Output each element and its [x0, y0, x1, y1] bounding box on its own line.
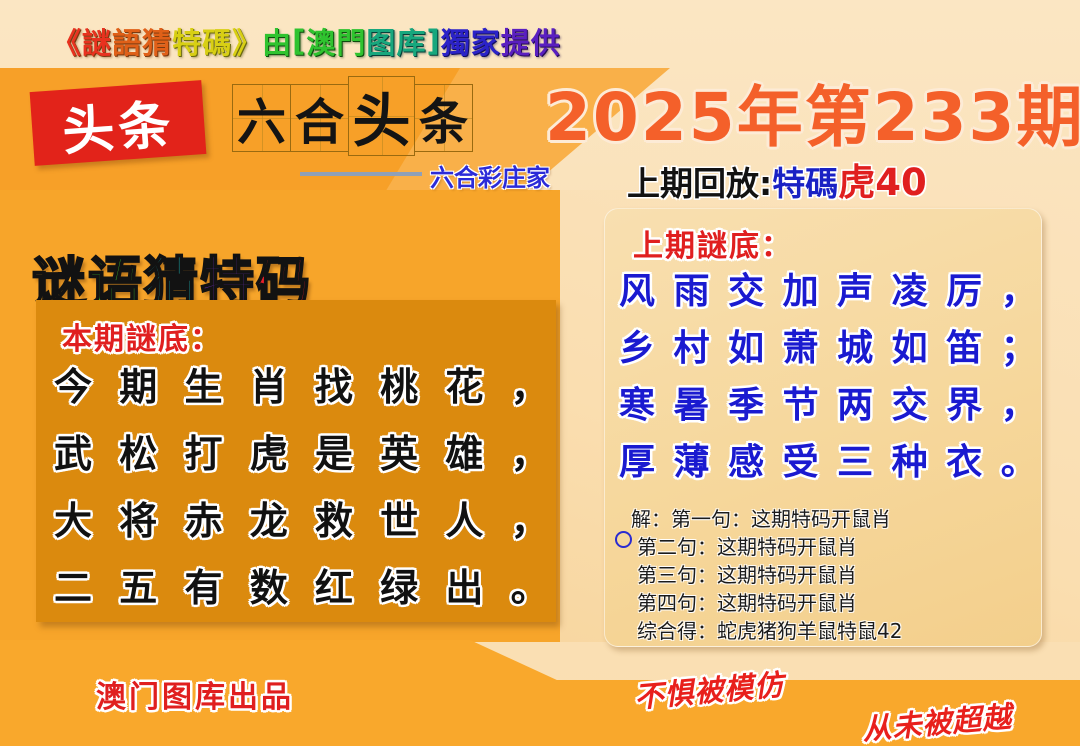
header-segment-6: 》: [232, 20, 262, 62]
header-segment-3: 猜: [142, 20, 172, 62]
previous-riddle-title: 上期謎底：: [633, 221, 793, 265]
last-draw-line: 上期回放:特碼虎40: [627, 152, 927, 206]
current-riddle-line-1: 武 松 打 虎 是 英 雄 ，: [54, 421, 544, 488]
header-segment-15: 家: [471, 20, 501, 62]
grid-title: 六合头条: [232, 84, 472, 156]
grid-title-cell-0: 六: [232, 84, 291, 152]
current-riddle-line-2: 大 将 赤 龙 救 世 人 ，: [54, 488, 544, 555]
current-riddle-title: 本期謎底：: [62, 314, 222, 358]
header-segment-0: 《: [52, 20, 82, 62]
grid-title-char: 合: [295, 83, 344, 154]
grid-title-cell-1: 合: [290, 84, 349, 152]
header-segment-14: 獨: [441, 20, 471, 62]
header-segment-13: ]: [426, 24, 440, 58]
previous-riddle-note-2: 第三句：这期特码开鼠肖: [631, 561, 1031, 589]
current-riddle-line-3: 二 五 有 数 红 绿 出 。: [54, 555, 544, 622]
subtitle-label: 六合彩庄家: [430, 158, 550, 193]
grid-title-char: 六: [237, 83, 286, 154]
header-segment-10: 門: [336, 20, 366, 62]
header-segment-2: 語: [112, 20, 142, 62]
grid-title-cell-2: 头: [348, 76, 415, 156]
current-riddle-lines: 今 期 生 肖 找 桃 花 ，武 松 打 虎 是 英 雄 ，大 将 赤 龙 救 …: [54, 354, 544, 622]
previous-riddle-panel: 上期謎底： 风 雨 交 加 声 凌 厉 ，乡 村 如 萧 城 如 笛 ；寒 暑 …: [604, 208, 1042, 647]
subtitle-rule: [300, 172, 422, 176]
last-draw-prefix: 上期回放:: [627, 157, 772, 205]
previous-riddle-line-3: 厚 薄 感 受 三 种 衣 。: [619, 434, 1039, 491]
header-segment-12: 库: [396, 20, 426, 62]
previous-riddle-line-0: 风 雨 交 加 声 凌 厉 ，: [619, 263, 1039, 320]
previous-riddle-note-3: 第四句：这期特码开鼠肖: [631, 589, 1031, 617]
header-segment-17: 供: [531, 20, 561, 62]
previous-riddle-notes: 解：第一句：这期特码开鼠肖第二句：这期特码开鼠肖第三句：这期特码开鼠肖第四句：这…: [631, 505, 1031, 645]
header-tagline: 《謎語猜特碼》 由 [澳門图库] 獨家提供: [0, 20, 1080, 60]
previous-riddle-lines: 风 雨 交 加 声 凌 厉 ，乡 村 如 萧 城 如 笛 ；寒 暑 季 节 两 …: [619, 263, 1039, 491]
issue-label: 2025年第233期: [545, 64, 1080, 160]
header-segment-4: 特: [172, 20, 202, 62]
current-riddle-line-0: 今 期 生 肖 找 桃 花 ，: [54, 354, 544, 421]
toutiao-badge: 头条: [30, 80, 207, 166]
header-segment-16: 提: [501, 20, 531, 62]
previous-riddle-line-1: 乡 村 如 萧 城 如 笛 ；: [619, 320, 1039, 377]
current-riddle-panel: 本期謎底： 今 期 生 肖 找 桃 花 ，武 松 打 虎 是 英 雄 ，大 将 …: [36, 300, 556, 622]
header-segment-7: 由: [262, 20, 292, 62]
previous-riddle-note-4: 综合得：蛇虎猪狗羊鼠特鼠42: [631, 617, 1031, 645]
last-draw-special-label: 特碼: [772, 157, 838, 205]
grid-title-char: 条: [419, 83, 468, 154]
footer-producer: 澳门图库出品: [96, 672, 294, 716]
header-segment-9: 澳: [306, 20, 336, 62]
poster-canvas: 《謎語猜特碼》 由 [澳門图库] 獨家提供 头条 六合头条 六合彩庄家 2025…: [0, 0, 1080, 746]
bullet-circle-icon: [615, 531, 632, 548]
header-segment-11: 图: [366, 20, 396, 62]
header-segment-5: 碼: [202, 20, 232, 62]
previous-riddle-note-1: 第二句：这期特码开鼠肖: [631, 533, 1031, 561]
previous-riddle-note-0: 解：第一句：这期特码开鼠肖: [631, 505, 1031, 533]
header-segment-1: 謎: [82, 20, 112, 62]
toutiao-badge-label: 头条: [30, 80, 207, 166]
grid-title-char: 头: [352, 74, 410, 158]
header-segment-8: [: [292, 24, 306, 58]
previous-riddle-line-2: 寒 暑 季 节 两 交 界 ，: [619, 377, 1039, 434]
last-draw-result: 虎40: [838, 152, 927, 206]
grid-title-cell-3: 条: [414, 84, 473, 152]
